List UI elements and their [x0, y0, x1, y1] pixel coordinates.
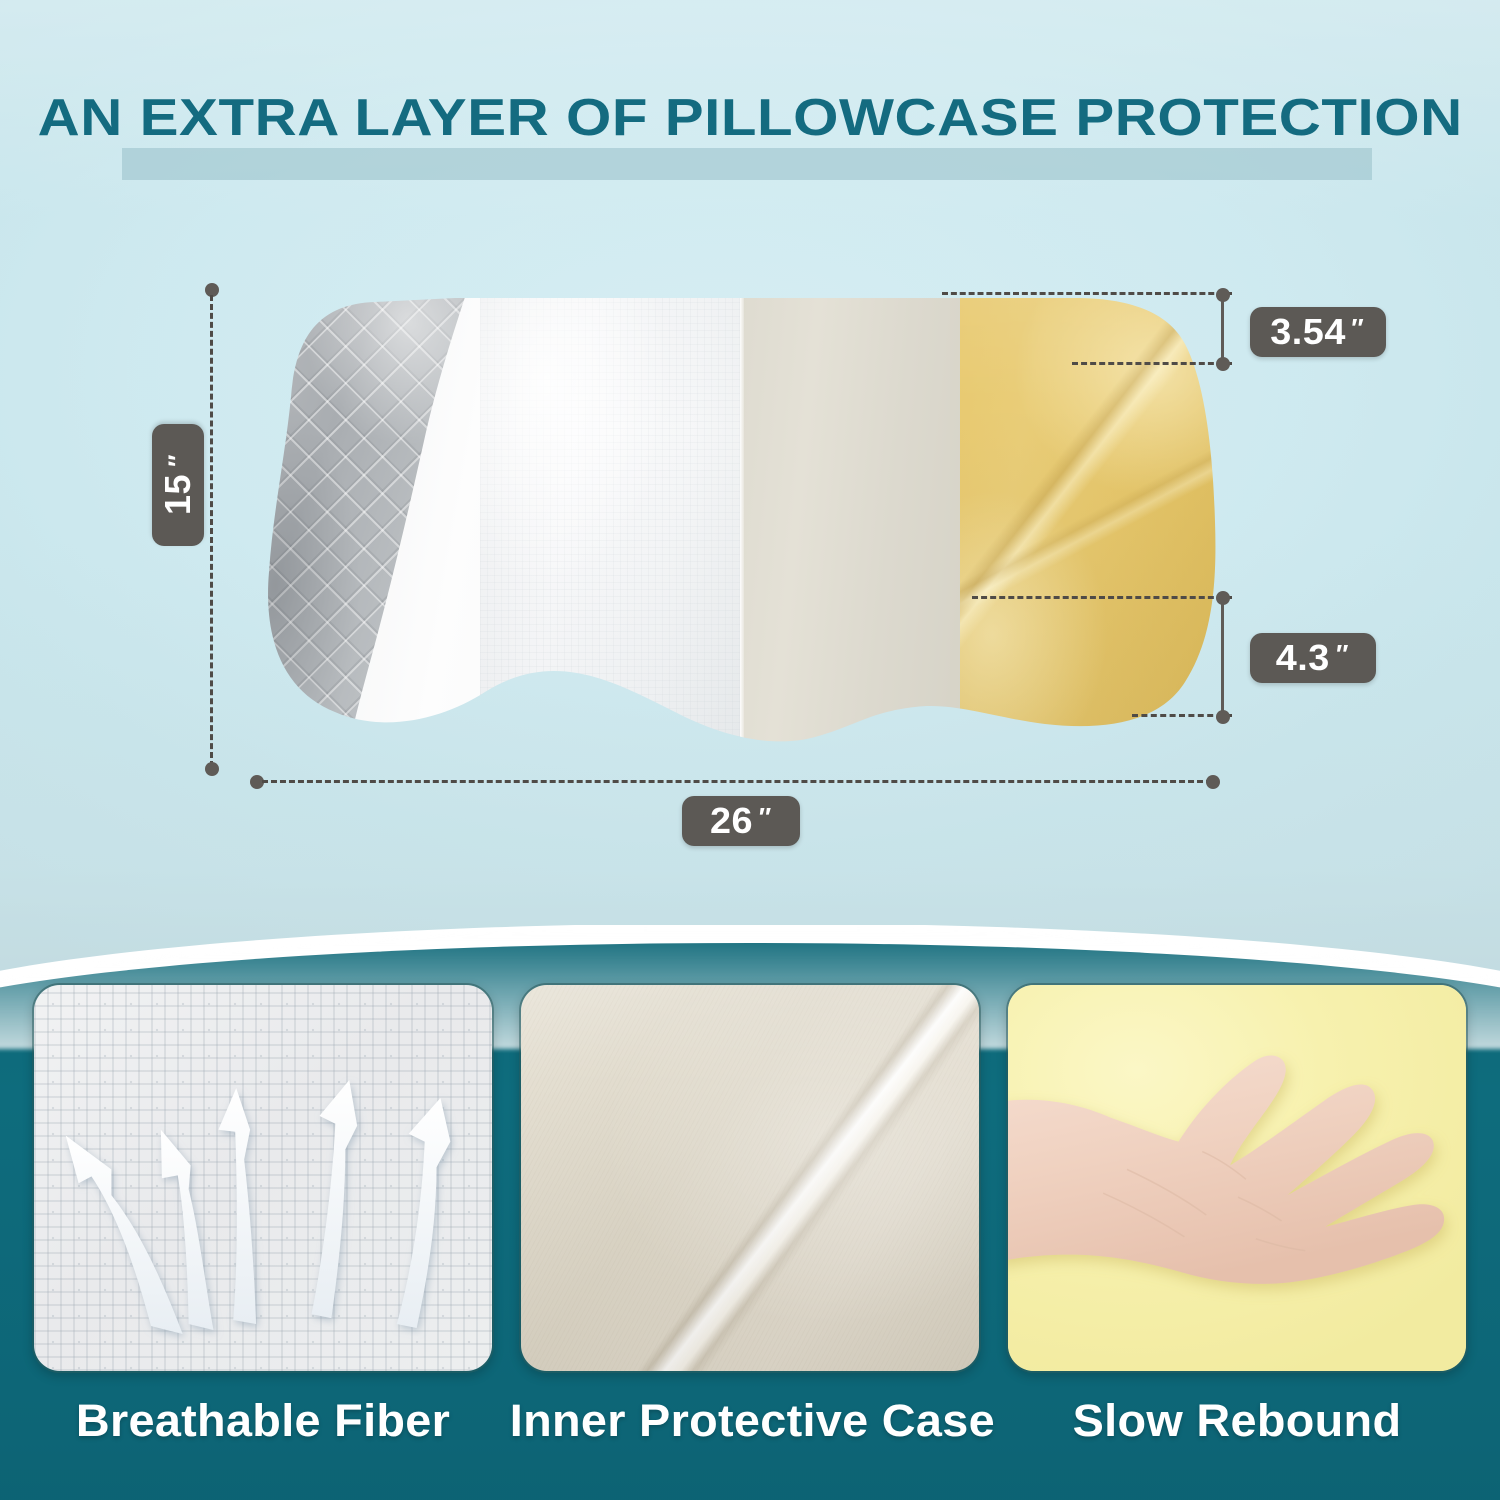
dim-width-value: 26	[710, 800, 753, 842]
dim-top-extension-lower	[1072, 362, 1232, 365]
feature-cards: Breathable Fiber Inner Protective Case S…	[0, 925, 1500, 1500]
dim-bottom-dot-lower	[1216, 710, 1230, 724]
dim-bottom-extension-upper	[972, 596, 1232, 599]
pillow-diagram	[255, 282, 1230, 772]
dim-depth-dashed-line	[210, 295, 213, 767]
feature-card-breathable-fiber	[32, 983, 494, 1373]
hand-pressing-foam-icon	[1008, 985, 1466, 1372]
dim-badge-depth: 15 ″	[152, 424, 204, 546]
feature-caption-breathable-fiber: Breathable Fiber	[23, 1395, 503, 1447]
dim-bottom-height-unit: ″	[1336, 639, 1348, 670]
hero-section: AN EXTRA LAYER OF PILLOWCASE PROTECTION	[0, 0, 1500, 985]
dim-top-measure-line	[1221, 296, 1224, 364]
inner-case-shading	[521, 985, 979, 1371]
feature-caption-slow-rebound: Slow Rebound	[997, 1395, 1477, 1447]
page-title: AN EXTRA LAYER OF PILLOWCASE PROTECTION	[37, 88, 1462, 148]
infographic-page: AN EXTRA LAYER OF PILLOWCASE PROTECTION	[0, 0, 1500, 1500]
layer-inner-protective-case	[740, 282, 960, 772]
dim-depth-unit: ″	[163, 455, 194, 467]
dim-bottom-measure-line	[1221, 599, 1224, 715]
dim-bottom-height-value: 4.3	[1276, 637, 1330, 679]
feature-card-slow-rebound	[1006, 983, 1468, 1373]
page-title-container: AN EXTRA LAYER OF PILLOWCASE PROTECTION	[0, 88, 1500, 148]
pillow-silhouette	[255, 282, 1230, 772]
dim-top-dot-lower	[1216, 357, 1230, 371]
dim-top-height-unit: ″	[1351, 313, 1363, 344]
dim-depth-value: 15	[157, 474, 199, 515]
dim-width-dashed-line	[262, 780, 1212, 783]
dim-badge-width: 26 ″	[682, 796, 800, 846]
dim-width-dot-right	[1206, 775, 1220, 789]
dim-top-extension-upper	[942, 292, 1232, 295]
title-highlight-bar	[122, 148, 1372, 180]
dim-badge-bottom-height: 4.3 ″	[1250, 633, 1376, 683]
inner-case-edge-highlight	[740, 282, 744, 772]
dim-width-unit: ″	[759, 802, 771, 833]
dim-depth-dot-bottom	[205, 762, 219, 776]
feature-card-inner-protective-case	[519, 983, 981, 1373]
airflow-arrows-icon	[34, 985, 492, 1372]
foam-crease-secondary	[960, 322, 1230, 652]
dim-top-height-value: 3.54	[1270, 311, 1346, 353]
features-section: Breathable Fiber Inner Protective Case S…	[0, 925, 1500, 1500]
feature-caption-inner-protective-case: Inner Protective Case	[510, 1395, 990, 1447]
dim-badge-top-height: 3.54 ″	[1250, 307, 1386, 357]
white-cover-shading	[480, 282, 740, 772]
